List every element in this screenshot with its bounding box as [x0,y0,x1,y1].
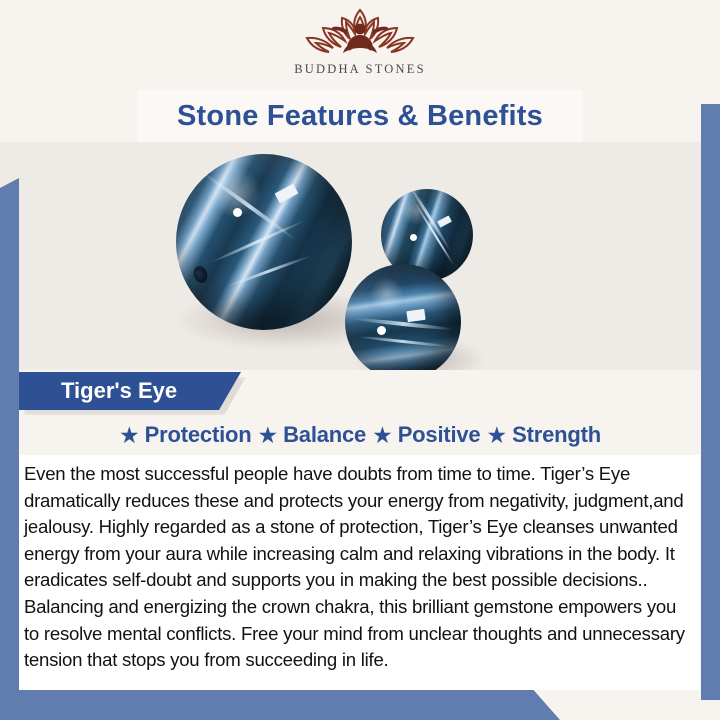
benefit-item-protection: ★ Protection [119,422,251,448]
brand-name: BUDDHA STONES [0,62,720,77]
benefit-label: Strength [512,422,601,448]
star-icon: ★ [257,424,278,447]
benefit-label: Protection [145,422,252,448]
bead-drill-hole [192,264,210,284]
brand-logo: BUDDHA STONES [0,4,720,77]
title-banner: Stone Features & Benefits [137,90,583,142]
star-icon: ★ [119,424,140,447]
decorative-bar-bottom [0,686,560,720]
stone-name: Tiger's Eye [19,378,177,404]
star-icon: ★ [372,424,393,447]
description-text: Even the most successful people have dou… [24,461,690,674]
gemstone-small [345,264,461,370]
benefit-item-positive: ★ Positive [372,422,480,448]
brand-header: BUDDHA STONES [0,0,720,90]
benefit-item-strength: ★ Strength [486,422,600,448]
benefits-row: ★ Protection ★ Balance ★ Positive ★ Stre… [0,418,720,452]
stone-photo [0,142,720,370]
stone-name-banner: Tiger's Eye [19,372,241,410]
lotus-meditation-icon [285,4,435,64]
benefit-item-balance: ★ Balance [257,422,366,448]
infographic-page: BUDDHA STONES Stone Features & Benefits [0,0,720,720]
benefit-label: Positive [398,422,481,448]
decorative-bar-right [701,104,720,700]
page-title: Stone Features & Benefits [177,100,543,133]
benefit-label: Balance [283,422,366,448]
star-icon: ★ [486,424,507,447]
gemstone-large [176,154,352,330]
description-panel: Even the most successful people have dou… [19,455,700,690]
